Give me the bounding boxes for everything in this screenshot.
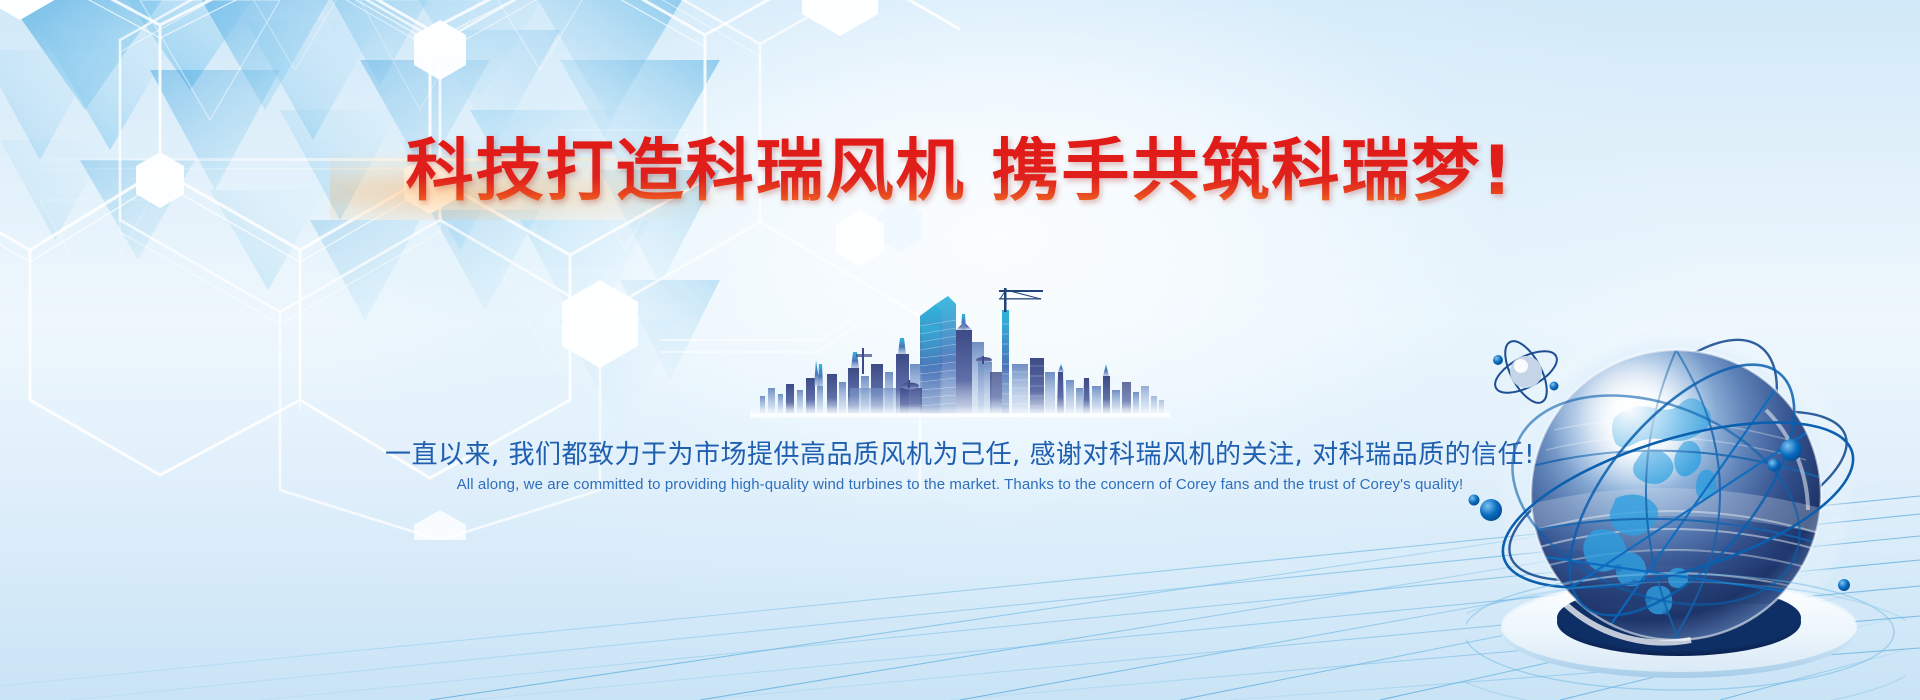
triangle-cluster-pattern-right <box>0 0 720 490</box>
headline-container: 科技打造科瑞风机 携手共筑科瑞梦! <box>0 136 1920 208</box>
promo-banner: 科技打造科瑞风机 携手共筑科瑞梦! <box>0 0 1920 700</box>
city-skyline-graphic <box>750 268 1170 418</box>
page-title: 科技打造科瑞风机 携手共筑科瑞梦! <box>406 136 1515 208</box>
triangle-cluster-pattern-left <box>0 0 740 430</box>
subtitle-english: All along, we are committed to providing… <box>0 476 1920 493</box>
subtitle-chinese: 一直以来, 我们都致力于为市场提供高品质风机为己任, 感谢对科瑞风机的关注, 对… <box>0 434 1920 471</box>
technology-globe-graphic <box>1466 300 1906 700</box>
